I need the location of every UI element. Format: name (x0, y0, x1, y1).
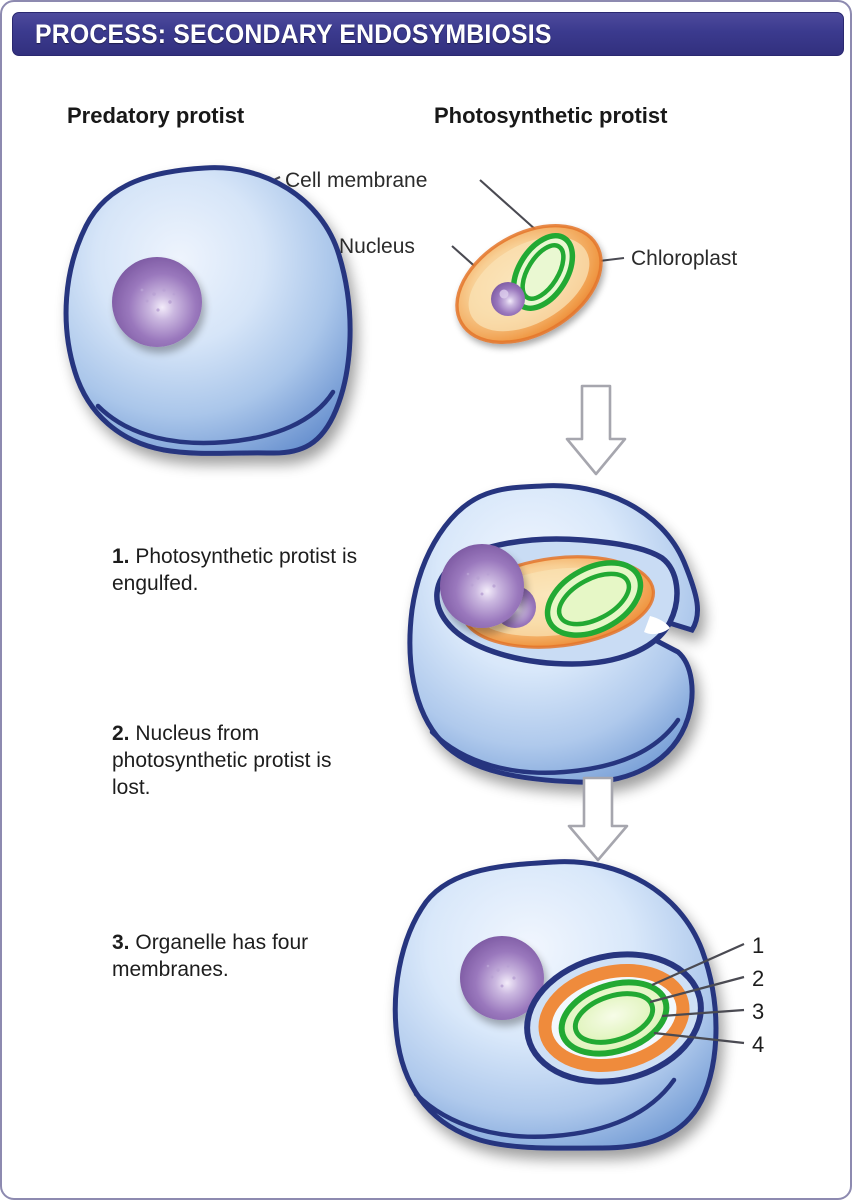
photosynthetic-protist-chloroplast (501, 225, 584, 318)
callout-label-chloroplast: Chloroplast (631, 247, 737, 271)
final-cell-nucleus (460, 936, 544, 1020)
predatory-protist-cell (66, 168, 350, 454)
engulfed-photosynthetic-nucleus (494, 586, 536, 628)
engulfing-cell (410, 486, 698, 783)
final-cell-with-organelle (395, 862, 716, 1148)
process-header-bar: PROCESS: SECONDARY ENDOSYMBIOSIS (12, 12, 844, 56)
engulfed-chloroplast (535, 548, 652, 650)
vesicle-closing-gap (644, 616, 670, 634)
step-3-description: 3. Organelle has four membranes. (112, 930, 362, 984)
membrane-number-4: 4 (752, 1032, 764, 1058)
page-title: PROCESS: SECONDARY ENDOSYMBIOSIS (35, 19, 552, 50)
callout-label-cell-membrane: Cell membrane (285, 169, 427, 193)
membrane-number-2: 2 (752, 966, 764, 992)
column-heading-predatory-protist: Predatory protist (67, 103, 244, 129)
four-membrane-organelle (514, 938, 713, 1098)
step-1-number: 1. (112, 545, 130, 568)
food-vacuole-membrane (437, 539, 677, 664)
predatory-protist-nucleus (112, 257, 202, 347)
step-2-description: 2. Nucleus from photosynthetic protist i… (112, 721, 362, 802)
engulfed-photosynthetic-protist (457, 547, 658, 658)
membrane-number-1: 1 (752, 933, 764, 959)
photosynthetic-protist-nucleus (491, 282, 525, 316)
step-3-number: 3. (112, 931, 130, 954)
arrow-step-2 (569, 778, 627, 860)
step-1-text: Photosynthetic protist is engulfed. (112, 545, 357, 595)
step-3-text: Organelle has four membranes. (112, 931, 308, 981)
step-2-text: Nucleus from photosynthetic protist is l… (112, 722, 331, 799)
diagram-panel: PROCESS: SECONDARY ENDOSYMBIOSIS Predato… (0, 0, 852, 1200)
engulfing-cell-nucleus (440, 544, 524, 628)
photosynthetic-protist-cell (436, 202, 621, 367)
membrane-number-3: 3 (752, 999, 764, 1025)
step-1-description: 1. Photosynthetic protist is engulfed. (112, 544, 362, 598)
callout-label-nucleus: Nucleus (339, 235, 415, 259)
column-heading-photosynthetic-protist: Photosynthetic protist (434, 103, 667, 129)
step-2-number: 2. (112, 722, 130, 745)
arrow-step-1 (567, 386, 625, 474)
leader-lines-membranes (650, 944, 744, 1043)
